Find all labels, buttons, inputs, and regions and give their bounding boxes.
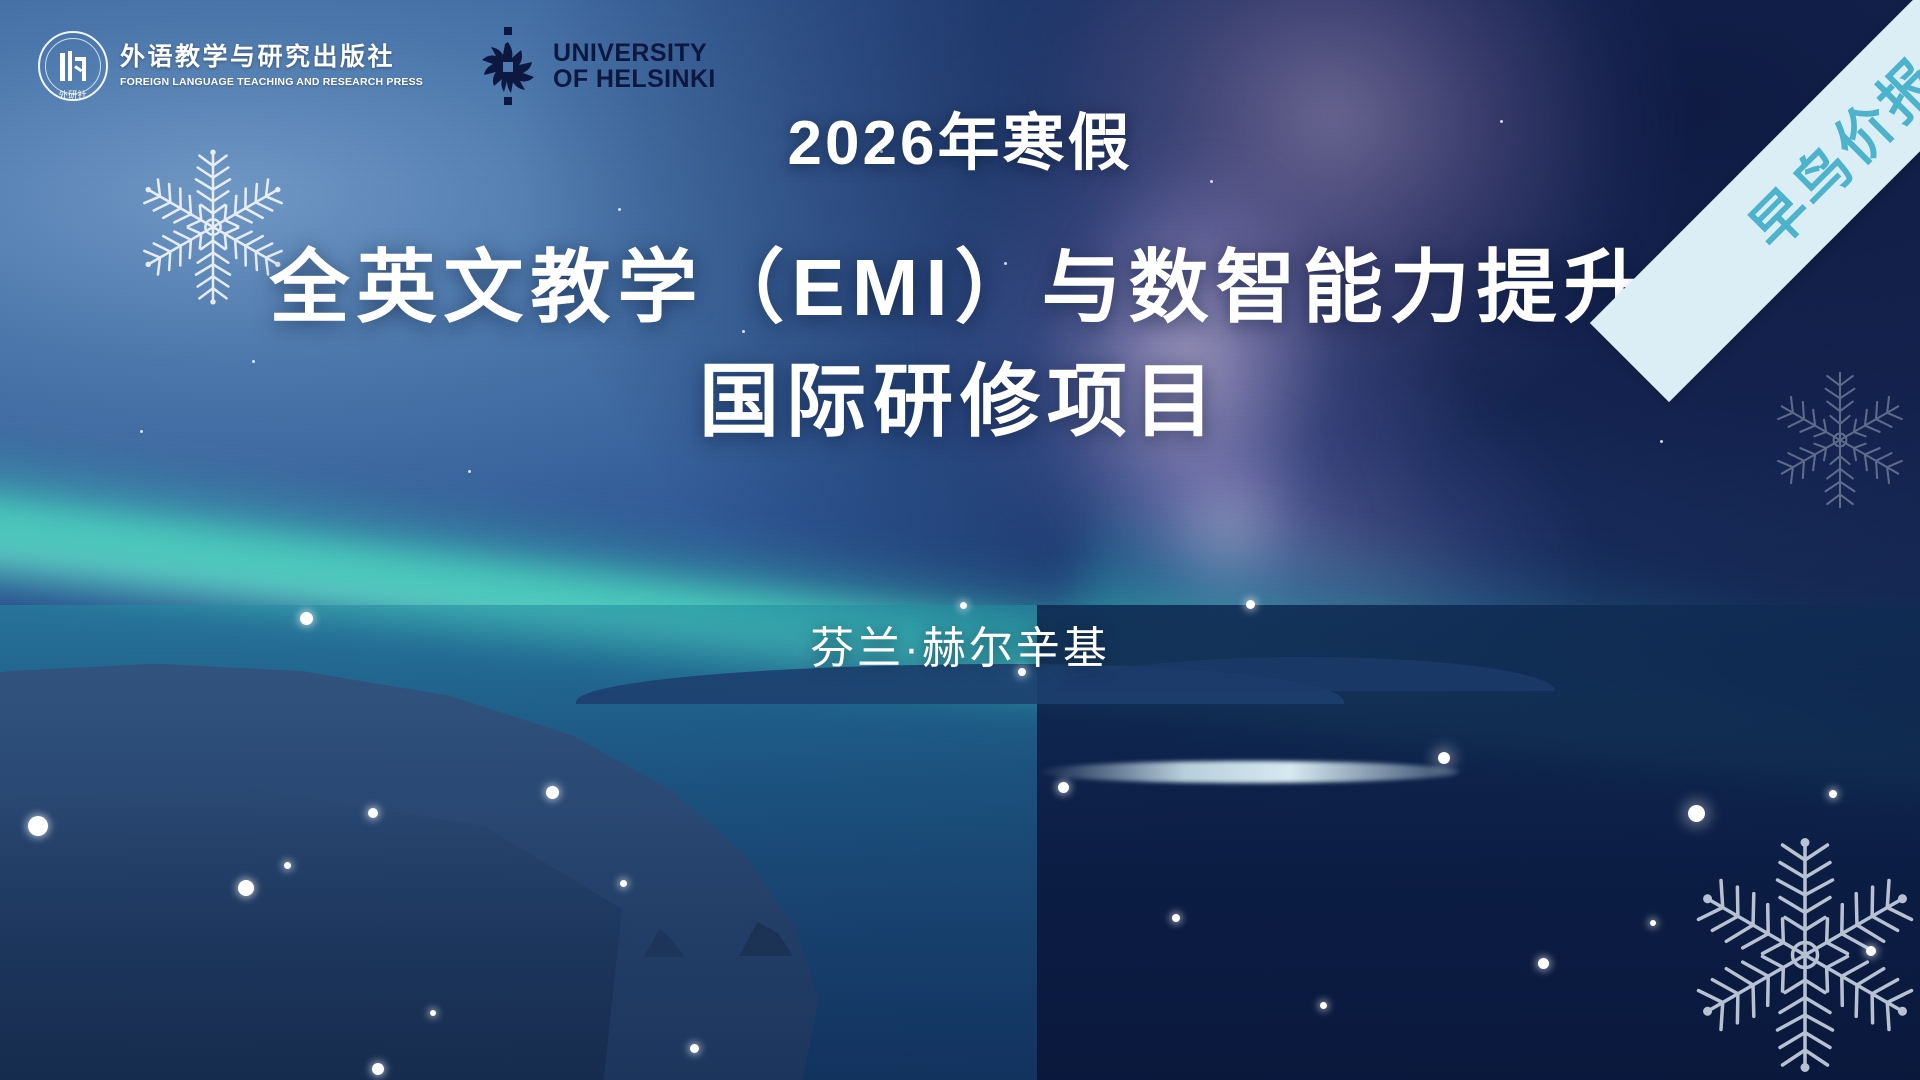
helsinki-logo: UNIVERSITY OF HELSINKI (477, 26, 716, 106)
year-line: 2026年寒假 (0, 108, 1920, 179)
flt-press-logo: 外研社 外语教学与研究出版社 FOREIGN LANGUAGE TEACHING… (38, 31, 423, 101)
flt-press-seal-glyph (60, 51, 86, 81)
logo-row: 外研社 外语教学与研究出版社 FOREIGN LANGUAGE TEACHING… (38, 26, 716, 106)
helsinki-line-2: OF HELSINKI (553, 66, 716, 92)
flt-press-name-en: FOREIGN LANGUAGE TEACHING AND RESEARCH P… (120, 76, 423, 88)
flt-press-name-cn: 外语教学与研究出版社 (120, 44, 423, 72)
helsinki-line-1: UNIVERSITY (553, 40, 716, 66)
helsinki-crest-icon (477, 26, 539, 106)
location-subtitle: 芬兰·赫尔辛基 (0, 612, 1920, 676)
flt-press-seal-icon: 外研社 (38, 31, 108, 101)
flt-press-seal-label: 外研社 (59, 88, 88, 101)
helsinki-wordmark: UNIVERSITY OF HELSINKI (553, 40, 716, 92)
poster-canvas: 外研社 外语教学与研究出版社 FOREIGN LANGUAGE TEACHING… (0, 0, 1920, 1080)
flt-press-wordmark: 外语教学与研究出版社 FOREIGN LANGUAGE TEACHING AND… (120, 44, 423, 88)
